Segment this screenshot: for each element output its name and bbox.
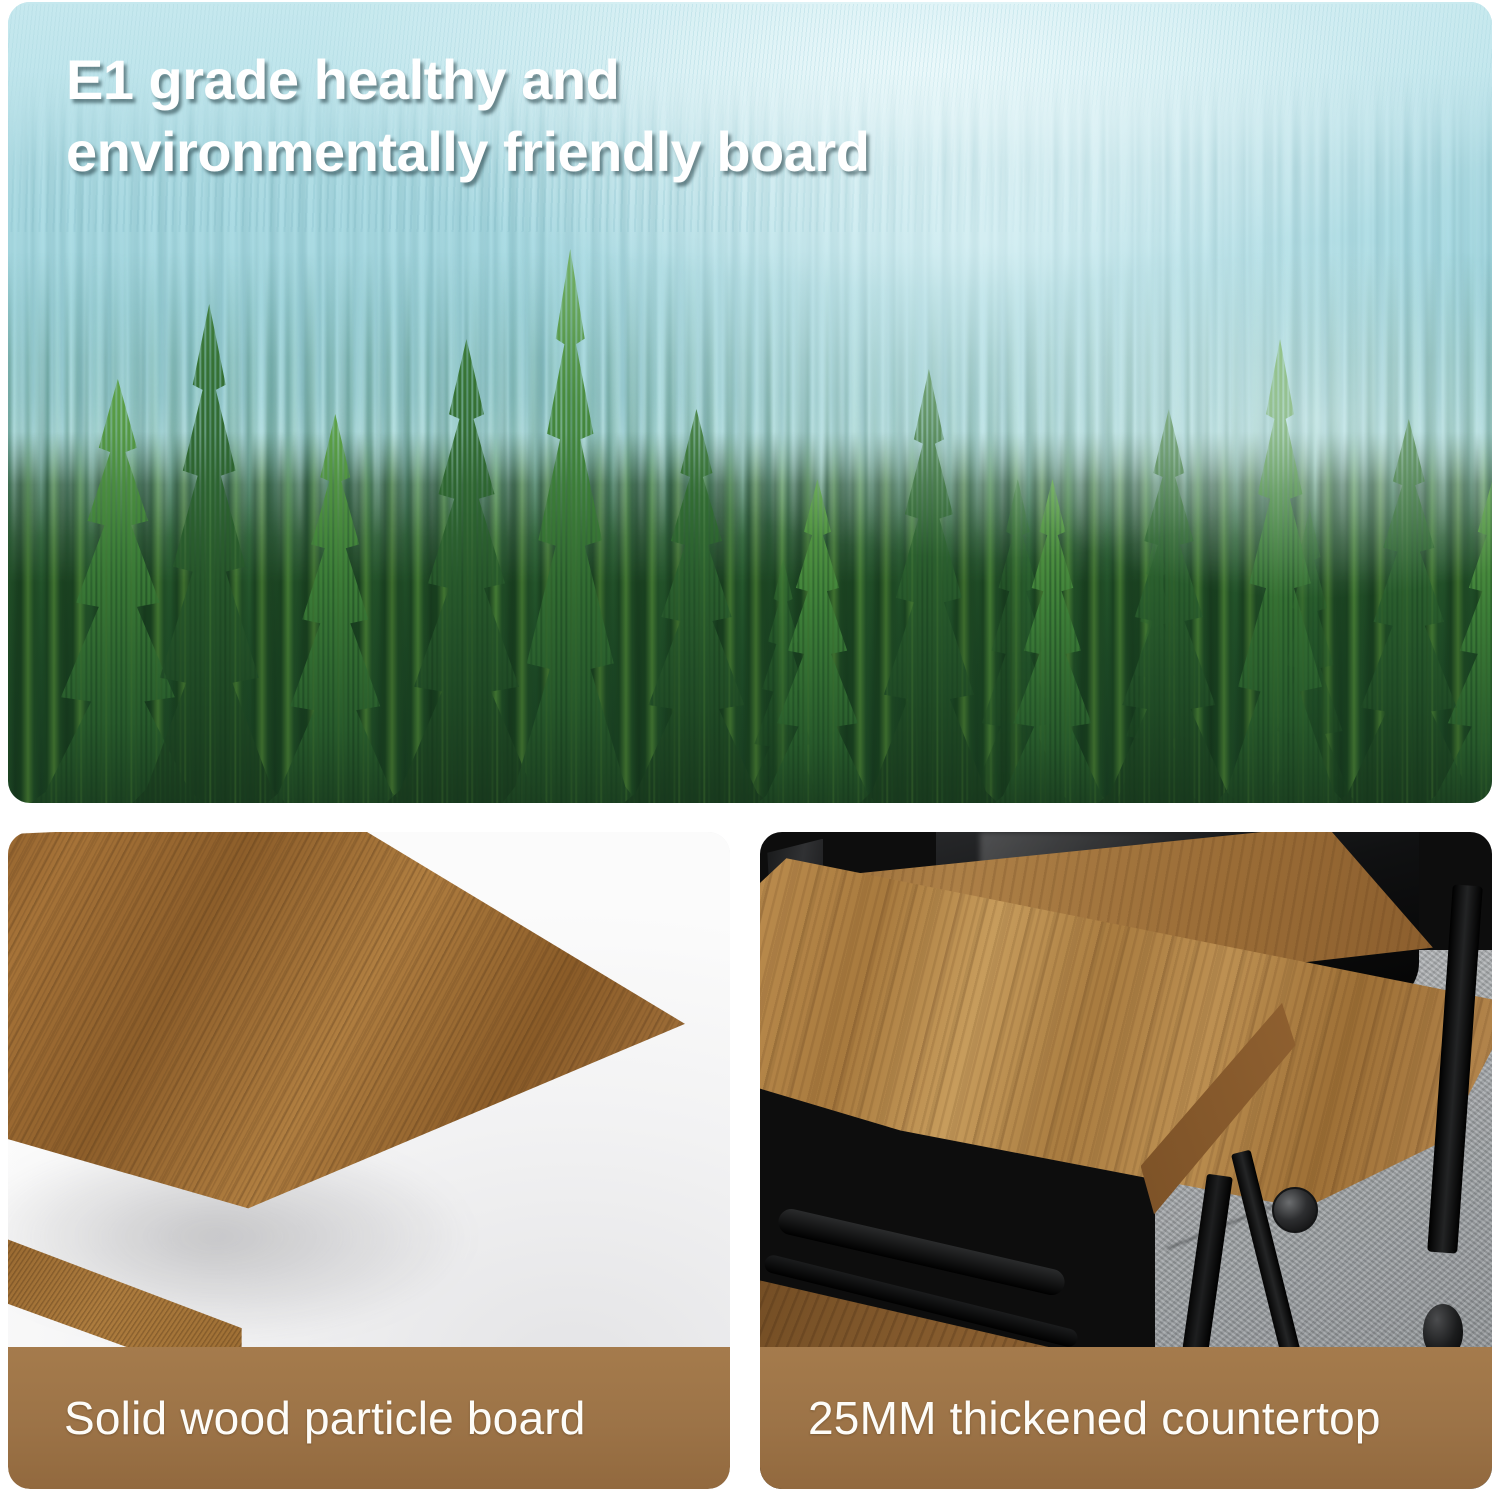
caption-label: 25MM thickened countertop xyxy=(760,1391,1381,1445)
wood-board-panel: Solid wood particle board xyxy=(8,832,730,1489)
caption-bar-left: Solid wood particle board xyxy=(8,1347,730,1489)
folding-hinge-knob xyxy=(1272,1187,1318,1233)
banner-headline: E1 grade healthy and environmentally fri… xyxy=(66,44,1166,187)
caption-label: Solid wood particle board xyxy=(8,1391,586,1445)
forest-banner: E1 grade healthy and environmentally fri… xyxy=(8,2,1492,803)
caption-bar-right: 25MM thickened countertop xyxy=(760,1347,1492,1489)
countertop-panel: 25MM thickened countertop xyxy=(760,832,1492,1489)
product-feature-collage: E1 grade healthy and environmentally fri… xyxy=(0,0,1500,1491)
